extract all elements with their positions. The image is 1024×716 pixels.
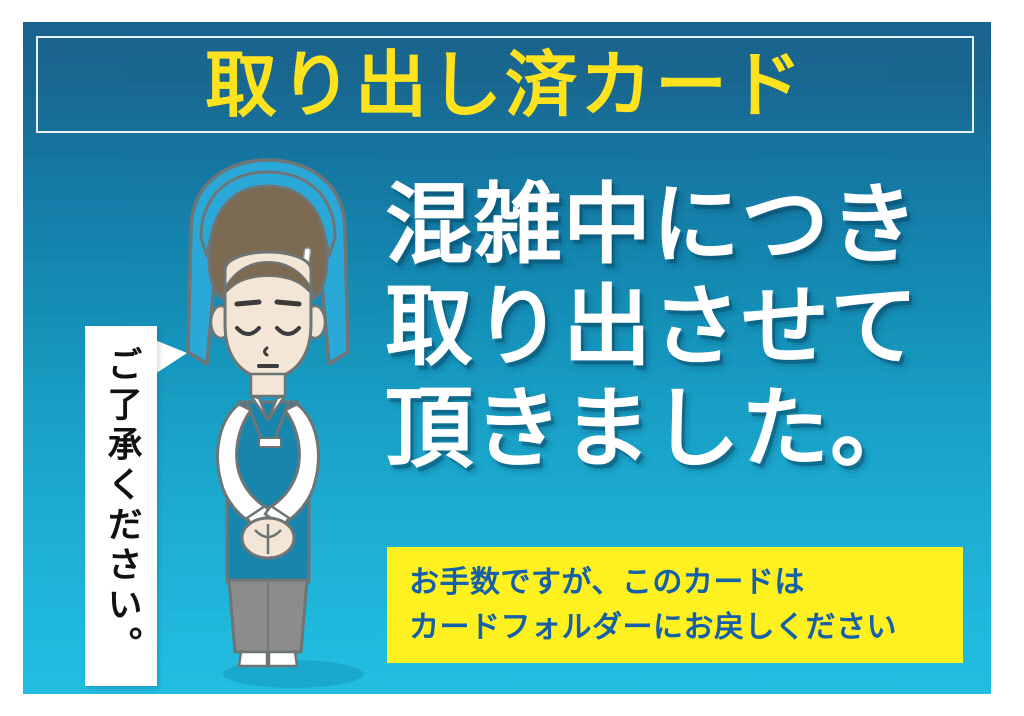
speech-bubble: ご了承ください。 (85, 326, 157, 686)
poster-background-panel: 取り出し済カード (23, 22, 991, 694)
note-box: お手数ですが、このカードは カードフォルダーにお戻しください (387, 547, 963, 663)
message-line-2: 取り出させて (385, 276, 985, 378)
message-line-3: 頂きました。 (385, 378, 985, 480)
speech-bubble-text: ご了承ください。 (85, 326, 157, 686)
staff-illustration (143, 152, 393, 692)
note-line-2: カードフォルダーにお戻しください (409, 605, 897, 650)
eyebrow-right (277, 302, 299, 304)
shoe-right (269, 652, 297, 666)
eyebrow-left (237, 302, 259, 304)
page-title: 取り出し済カード (38, 49, 972, 121)
name-badge (259, 438, 281, 447)
neck (251, 374, 285, 396)
message-line-1: 混雑中につき (385, 174, 985, 276)
shoe-left (239, 652, 267, 666)
title-frame: 取り出し済カード (36, 36, 974, 133)
poster: 取り出し済カード (0, 0, 1024, 716)
main-message: 混雑中につき 取り出させて 頂きました。 (385, 174, 985, 480)
note-line-1: お手数ですが、このカードは (409, 560, 805, 605)
speech-bubble-tail (155, 340, 187, 374)
